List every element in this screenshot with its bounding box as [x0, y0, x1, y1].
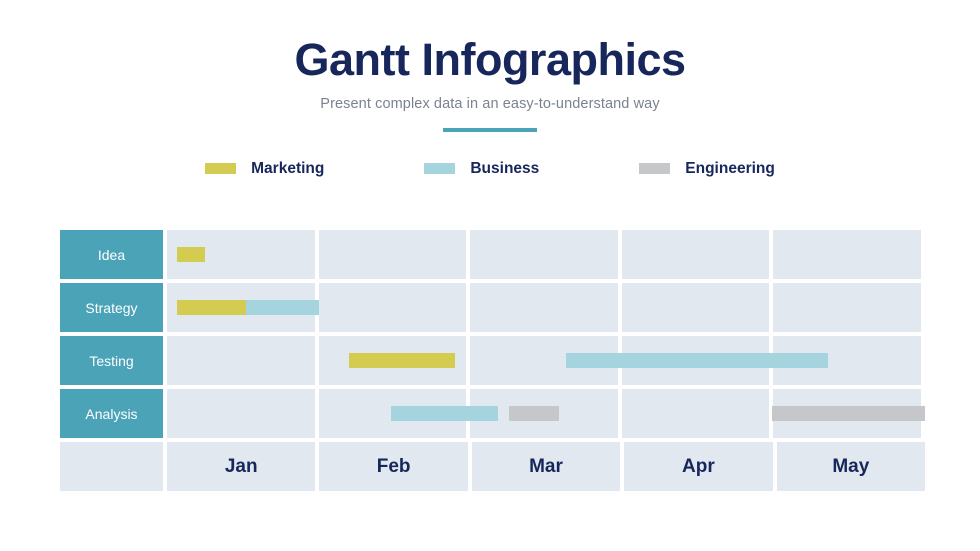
month-cell-mar[interactable]: Mar — [472, 442, 620, 491]
grid-cell — [622, 336, 770, 385]
legend-swatch-business — [424, 163, 455, 174]
page-subtitle: Present complex data in an easy-to-under… — [0, 96, 980, 112]
row-label-analysis[interactable]: Analysis — [60, 389, 163, 438]
row-label-testing[interactable]: Testing — [60, 336, 163, 385]
legend-label-business: Business — [470, 160, 539, 178]
month-cell-apr[interactable]: Apr — [624, 442, 772, 491]
grid-cell — [319, 389, 467, 438]
title-divider — [443, 128, 537, 132]
gantt-track-idea — [167, 230, 925, 279]
grid-cell — [319, 336, 467, 385]
month-cell-feb[interactable]: Feb — [319, 442, 467, 491]
chart-legend: Marketing Business Engineering — [0, 160, 980, 178]
axis-corner-cell — [60, 442, 163, 491]
grid-cell — [167, 389, 315, 438]
grid-cell — [773, 389, 921, 438]
gantt-row-idea: Idea — [60, 230, 925, 279]
month-axis: Jan Feb Mar Apr May — [167, 442, 925, 491]
grid-cell — [773, 336, 921, 385]
grid-cell — [622, 389, 770, 438]
grid-cell — [167, 336, 315, 385]
page-header: Gantt Infographics Present complex data … — [0, 0, 980, 132]
grid-cell — [167, 230, 315, 279]
legend-item-engineering[interactable]: Engineering — [639, 160, 775, 178]
gantt-track-testing — [167, 336, 925, 385]
gantt-chart: Idea Strategy Testing — [60, 230, 925, 496]
grid-cell — [470, 283, 618, 332]
legend-item-marketing[interactable]: Marketing — [205, 160, 324, 178]
grid-cell — [470, 230, 618, 279]
grid-cell — [470, 389, 618, 438]
legend-item-business[interactable]: Business — [424, 160, 539, 178]
grid-cell — [622, 230, 770, 279]
grid-cell — [622, 283, 770, 332]
grid-cell — [167, 283, 315, 332]
page-title: Gantt Infographics — [0, 36, 980, 84]
row-label-strategy[interactable]: Strategy — [60, 283, 163, 332]
gantt-row-strategy: Strategy — [60, 283, 925, 332]
row-label-idea[interactable]: Idea — [60, 230, 163, 279]
grid-cell — [319, 230, 467, 279]
legend-swatch-engineering — [639, 163, 670, 174]
grid-cell — [773, 230, 921, 279]
grid-cell — [773, 283, 921, 332]
grid-cell — [319, 283, 467, 332]
gantt-row-months: Jan Feb Mar Apr May — [60, 442, 925, 491]
gantt-row-analysis: Analysis — [60, 389, 925, 438]
legend-swatch-marketing — [205, 163, 236, 174]
gantt-track-analysis — [167, 389, 925, 438]
legend-label-engineering: Engineering — [685, 160, 775, 178]
month-cell-may[interactable]: May — [777, 442, 925, 491]
divider-wrap — [0, 128, 980, 132]
legend-label-marketing: Marketing — [251, 160, 324, 178]
grid-cell — [470, 336, 618, 385]
gantt-track-strategy — [167, 283, 925, 332]
month-cell-jan[interactable]: Jan — [167, 442, 315, 491]
gantt-row-testing: Testing — [60, 336, 925, 385]
